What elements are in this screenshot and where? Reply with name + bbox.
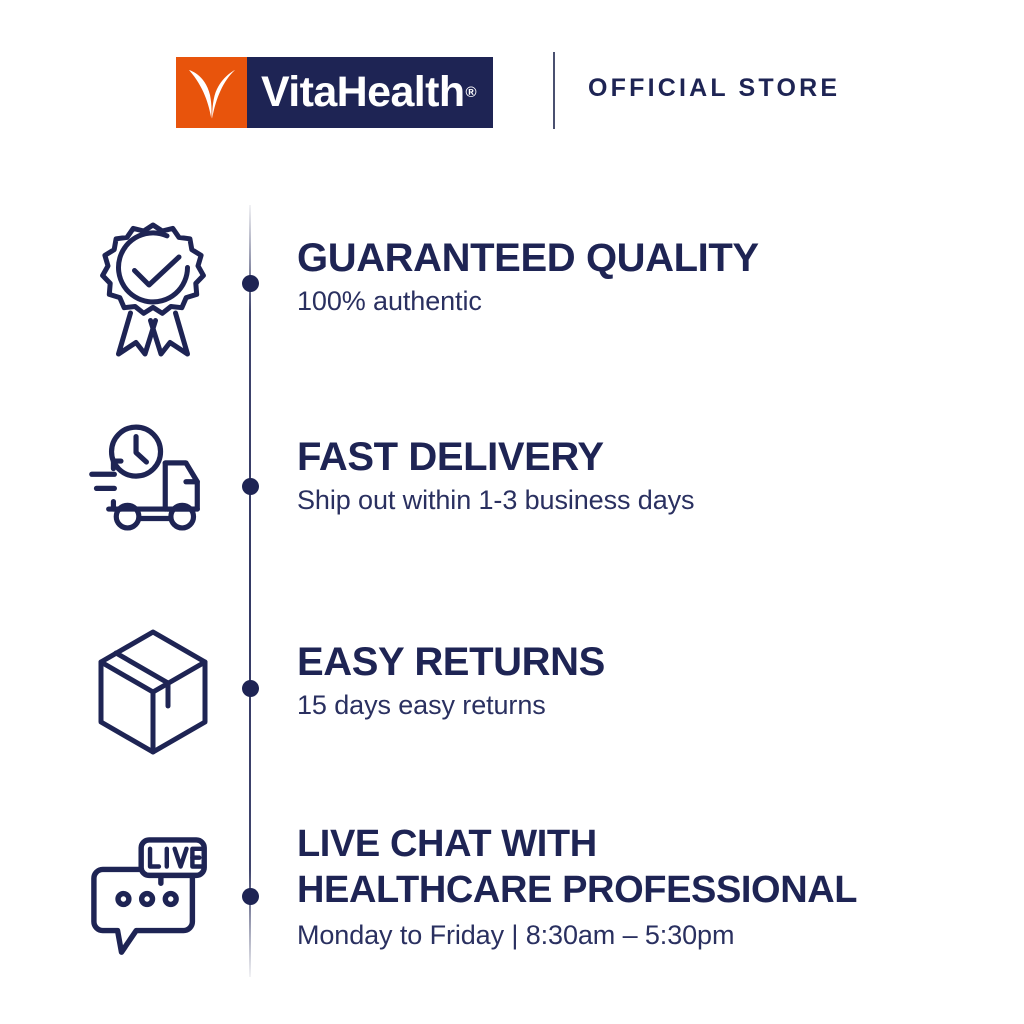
feature-text-easy-returns: EASY RETURNS 15 days easy returns	[297, 640, 997, 722]
feature-title: FAST DELIVERY	[297, 435, 997, 480]
feature-subtitle: Monday to Friday | 8:30am – 5:30pm	[297, 919, 997, 952]
package-box-icon	[88, 624, 218, 759]
registered-trademark-icon: ®	[466, 85, 477, 100]
live-chat-bubble-icon	[88, 832, 218, 967]
header-divider	[553, 52, 555, 129]
feature-subtitle: 100% authentic	[297, 285, 997, 318]
feature-subtitle: Ship out within 1-3 business days	[297, 484, 997, 517]
brand-wordmark: VitaHealth	[261, 71, 465, 114]
header-banner: VitaHealth® OFFICIAL STORE	[0, 0, 1024, 180]
feature-title-line2: HEALTHCARE PROFESSIONAL	[297, 868, 997, 914]
timeline-dot-delivery	[242, 478, 259, 495]
fast-delivery-truck-icon	[88, 418, 218, 538]
feature-title: EASY RETURNS	[297, 640, 997, 685]
timeline-spine	[249, 205, 251, 977]
quality-badge-icon	[88, 215, 218, 360]
timeline-dot-quality	[242, 275, 259, 292]
timeline-dot-chat	[242, 888, 259, 905]
feature-text-live-chat: LIVE CHAT WITH HEALTHCARE PROFESSIONAL M…	[297, 822, 997, 952]
brand-wordmark-block: VitaHealth®	[247, 57, 493, 128]
feature-text-guaranteed-quality: GUARANTEED QUALITY 100% authentic	[297, 236, 997, 318]
official-store-label: OFFICIAL STORE	[588, 74, 840, 103]
timeline-dot-returns	[242, 680, 259, 697]
feature-text-fast-delivery: FAST DELIVERY Ship out within 1-3 busine…	[297, 435, 997, 517]
vitahealth-leaf-mark-icon	[176, 57, 247, 128]
feature-subtitle: 15 days easy returns	[297, 689, 997, 722]
brand-logo: VitaHealth®	[176, 57, 493, 128]
feature-title-line1: LIVE CHAT WITH	[297, 822, 997, 868]
feature-title: GUARANTEED QUALITY	[297, 236, 997, 281]
